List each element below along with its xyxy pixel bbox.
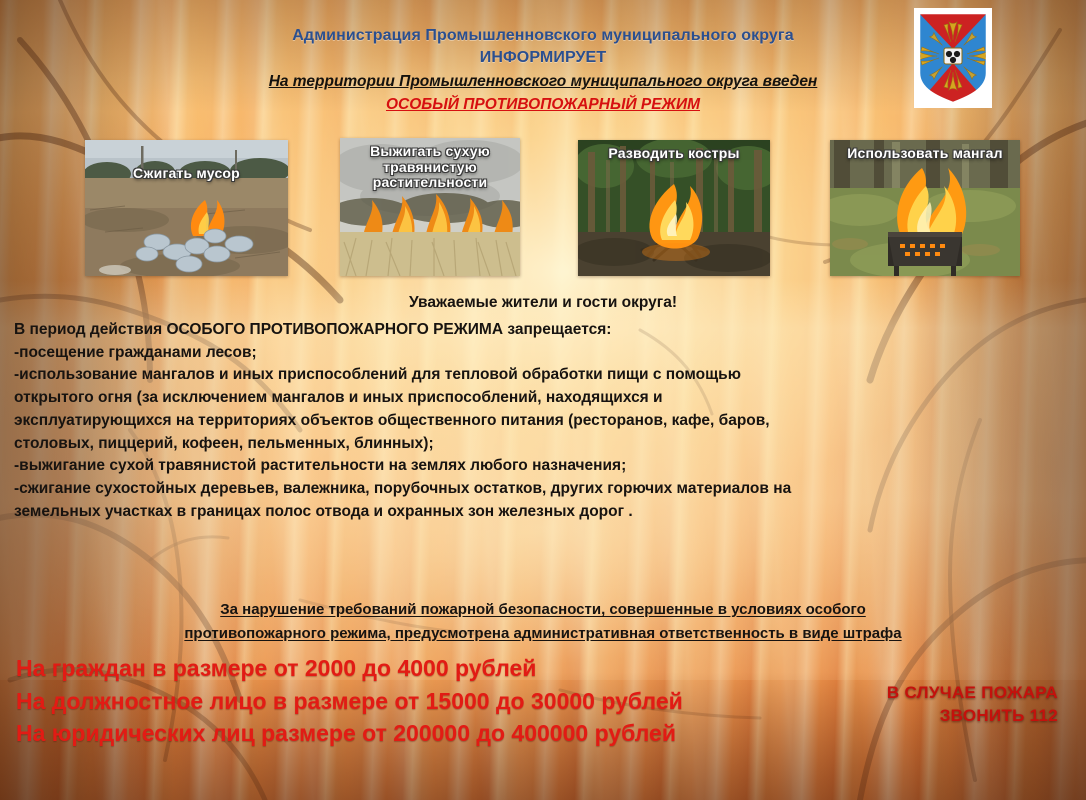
fines-list: На граждан в размере от 2000 до 4000 руб…	[16, 652, 683, 750]
prohibition-rule: -сжигание сухостойных деревьев, валежник…	[14, 478, 1072, 501]
penalty-intro-line: противопожарного режима, предусмотрена а…	[50, 622, 1036, 646]
fine-officials: На должностное лицо в размере от 15000 д…	[16, 685, 683, 718]
penalty-intro-line: За нарушение требований пожарной безопас…	[50, 598, 1036, 622]
salutation: Уважаемые жители и гости округа!	[14, 292, 1072, 315]
coat-of-arms-icon	[914, 8, 992, 108]
photo-caption: Использовать мангал	[830, 146, 1020, 162]
prohibition-rule: земельных участках в границах полос отво…	[14, 501, 1072, 524]
emergency-line-phone: ЗВОНИТЬ 112	[887, 705, 1058, 728]
prohibition-rule: столовых, пиццерий, кофеен, пельменных, …	[14, 433, 1072, 456]
photo-caption: Сжигать мусор	[85, 166, 288, 182]
prohibition-rule: эксплуатирующихся на территориях объекто…	[14, 410, 1072, 433]
fine-citizens: На граждан в размере от 2000 до 4000 руб…	[16, 652, 683, 685]
prohibition-rule: -использование мангалов и иных приспособ…	[14, 364, 1072, 387]
photo-burning-dry-grass: Выжигать сухую травянистую растительност…	[340, 138, 520, 276]
photo-caption: Выжигать сухую травянистую растительност…	[340, 144, 520, 191]
prohibition-photo-strip: Сжигать мусор	[0, 138, 1086, 278]
fire-safety-poster: Администрация Промышленновского муниципа…	[0, 0, 1086, 800]
prohibition-rule: открытого огня (за исключением мангалов …	[14, 387, 1072, 410]
prohibition-intro: В период действия ОСОБОГО ПРОТИВОПОЖАРНО…	[14, 319, 1072, 342]
fine-legal-entities: На юридических лиц размере от 200000 до …	[16, 717, 683, 750]
photo-brazier-mangal: Использовать мангал	[830, 140, 1020, 276]
photo-campfire-in-forest: Разводить костры	[578, 140, 770, 276]
penalty-intro: За нарушение требований пожарной безопас…	[50, 598, 1036, 645]
emergency-callout: В СЛУЧАЕ ПОЖАРА ЗВОНИТЬ 112	[887, 682, 1058, 728]
emergency-line-fire: В СЛУЧАЕ ПОЖАРА	[887, 682, 1058, 705]
photo-burning-trash: Сжигать мусор	[85, 140, 288, 276]
photo-caption: Разводить костры	[578, 146, 770, 162]
prohibition-text-block: Уважаемые жители и гости округа! В перио…	[14, 292, 1072, 524]
prohibition-rule: -посещение гражданами лесов;	[14, 342, 1072, 365]
prohibition-rule: -выжигание сухой травянистой растительно…	[14, 455, 1072, 478]
